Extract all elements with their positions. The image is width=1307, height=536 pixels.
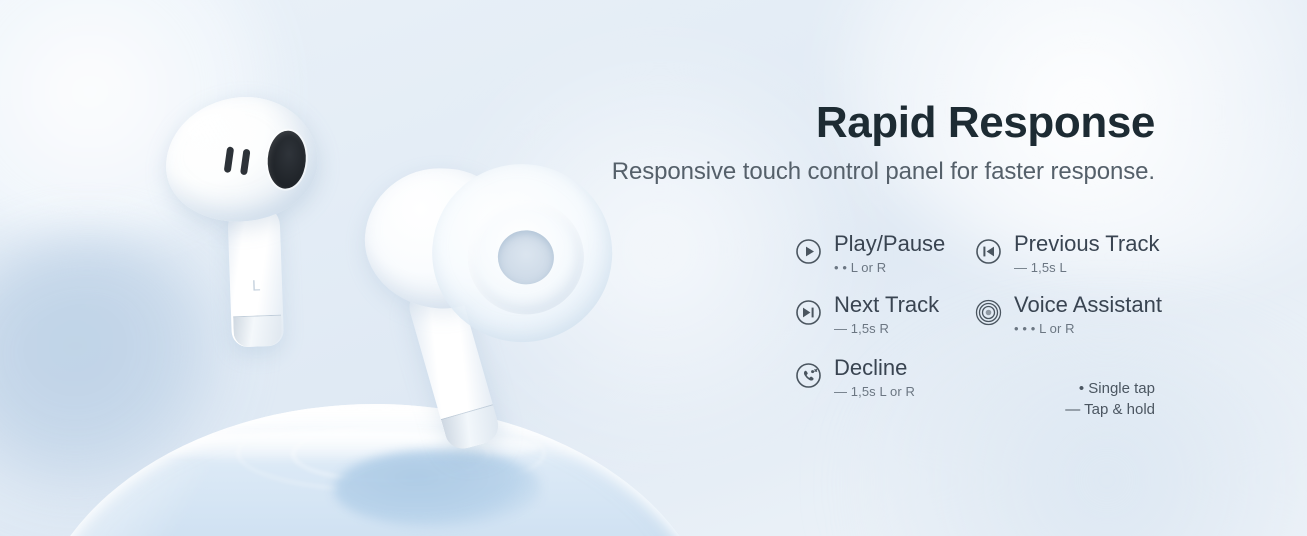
earbud-left: L xyxy=(155,87,360,354)
product-hero-banner: L Rapid Response Responsive touch contro… xyxy=(0,0,1307,536)
next-track-icon xyxy=(795,299,822,326)
feature-label: Next Track xyxy=(834,292,939,317)
earbud-left-gloss xyxy=(182,105,268,156)
feature-voice-assistant: Voice Assistant • • • L or R xyxy=(975,293,1165,336)
feature-text: Play/Pause • • L or R xyxy=(834,232,945,275)
feature-text: Voice Assistant • • • L or R xyxy=(1014,293,1162,336)
earbud-left-stem: L xyxy=(227,204,284,348)
earbud-right-stem-tip xyxy=(441,404,503,453)
earbud-left-stem-tip xyxy=(233,315,282,348)
play-circle-icon xyxy=(795,238,822,265)
voice-assistant-icon xyxy=(975,299,1002,326)
decline-call-icon xyxy=(795,362,822,389)
feature-label: Decline xyxy=(834,355,907,380)
feature-text: Previous Track — 1,5s L xyxy=(1014,232,1160,275)
feature-label: Play/Pause xyxy=(834,231,945,256)
feature-label: Voice Assistant xyxy=(1014,292,1162,317)
feature-play-pause: Play/Pause • • L or R xyxy=(795,232,975,275)
feature-label: Previous Track xyxy=(1014,231,1160,256)
feature-next-track: Next Track — 1,5s R xyxy=(795,293,975,336)
feature-gesture: — 1,5s L xyxy=(1014,261,1160,276)
feature-row: Play/Pause • • L or R Previous Track — 1… xyxy=(795,232,1165,275)
feature-gesture: — 1,5s R xyxy=(834,322,939,337)
legend-tap-hold: — Tap & hold xyxy=(1065,399,1155,420)
previous-track-icon xyxy=(975,238,1002,265)
feature-gesture: — 1,5s L or R xyxy=(834,385,915,400)
earbud-left-side-marking: L xyxy=(252,277,262,294)
legend-single-tap: • Single tap xyxy=(1065,378,1155,399)
feature-text: Next Track — 1,5s R xyxy=(834,293,939,336)
earbud-right xyxy=(350,153,630,470)
page-title: Rapid Response xyxy=(816,98,1155,148)
feature-decline: Decline — 1,5s L or R xyxy=(795,356,975,399)
feature-text: Decline — 1,5s L or R xyxy=(834,356,915,399)
feature-previous-track: Previous Track — 1,5s L xyxy=(975,232,1165,275)
feature-gesture: • • • L or R xyxy=(1014,322,1162,337)
feature-row: Next Track — 1,5s R Voice Assistant • • … xyxy=(795,293,1165,336)
page-subtitle: Responsive touch control panel for faste… xyxy=(612,158,1155,186)
gesture-legend: • Single tap — Tap & hold xyxy=(1065,378,1155,421)
feature-gesture: • • L or R xyxy=(834,261,945,276)
